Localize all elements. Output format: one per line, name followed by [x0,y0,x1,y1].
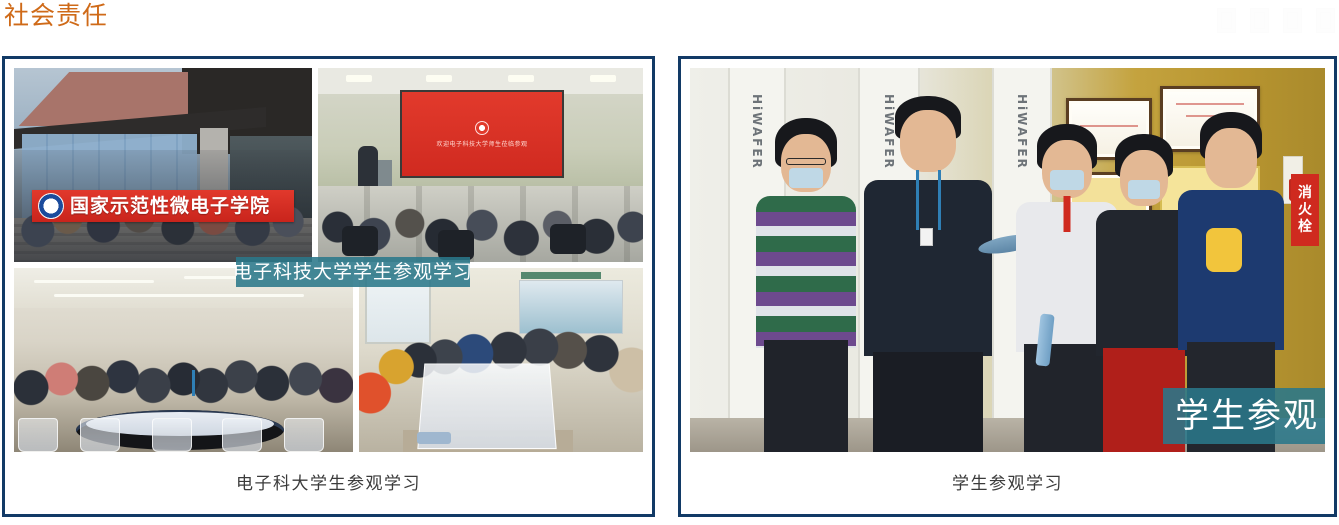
page-header: 社会责任 [0,0,1339,48]
photo-students-around-display-case[interactable] [359,268,643,452]
card-edu-visit-caption: 电子科大学生参观学习 [5,448,652,514]
guide-adult [862,96,994,452]
overlay-label-edu-visit: 电子科技大学学生参观学习 [236,257,470,287]
photo-students-around-circular-exhibit[interactable] [14,268,353,452]
page-title: 社会责任 [4,1,108,31]
campus-entrance-scene: 国家示范性微电子学院 [14,68,312,262]
fire-hydrant-sign: 消 火 栓 [1291,174,1319,246]
overlay-label-student-visit: 学生参观 [1163,388,1325,444]
child-striped-sweater [754,112,858,452]
photo-collage: 国家示范性微电子学院 [14,68,643,452]
card-student-visit-caption: 学生参观学习 [681,448,1334,514]
fire-sign-char-3: 栓 [1298,220,1312,235]
card-edu-visit[interactable]: 国家示范性微电子学院 [2,56,655,517]
social-responsibility-page: 社会责任 [0,0,1339,525]
placeholder-glyph-2-icon[interactable] [1250,8,1269,33]
photo-guide-explaining-wafer-to-children[interactable]: HiWAFER HiWAFER HiWAFER [690,68,1325,452]
banner-text: 国家示范性微电子学院 [70,196,270,216]
photo-campus-entrance-group-photo[interactable]: 国家示范性微电子学院 [14,68,312,262]
placeholder-glyph-4-icon[interactable] [1316,8,1335,33]
placeholder-glyph-3-icon[interactable] [1283,8,1302,33]
red-banner: 国家示范性微电子学院 [32,190,294,222]
screen-logo-icon [475,121,489,135]
circular-exhibit-scene [14,268,353,452]
card-grid: 国家示范性微电子学院 [0,56,1339,518]
card-edu-visit-media: 国家示范性微电子学院 [14,68,643,452]
placeholder-glyph-1-icon[interactable] [1217,8,1236,33]
photo-lecture-hall-presentation[interactable]: 欢迎电子科技大学师生莅临参观 [318,68,643,262]
screen-text: 欢迎电子科技大学师生莅临参观 [436,139,527,148]
projection-screen: 欢迎电子科技大学师生莅临参观 [400,90,564,178]
lecture-hall-scene: 欢迎电子科技大学师生莅临参观 [318,68,643,262]
display-case-scene [359,268,643,452]
fire-sign-char-2: 火 [1298,203,1312,218]
card-student-visit[interactable]: HiWAFER HiWAFER HiWAFER [678,56,1337,517]
card-student-visit-media: HiWAFER HiWAFER HiWAFER [690,68,1325,452]
fire-sign-char-1: 消 [1298,186,1312,201]
header-icon-group [1217,8,1335,33]
school-emblem-logo-icon [38,193,64,219]
